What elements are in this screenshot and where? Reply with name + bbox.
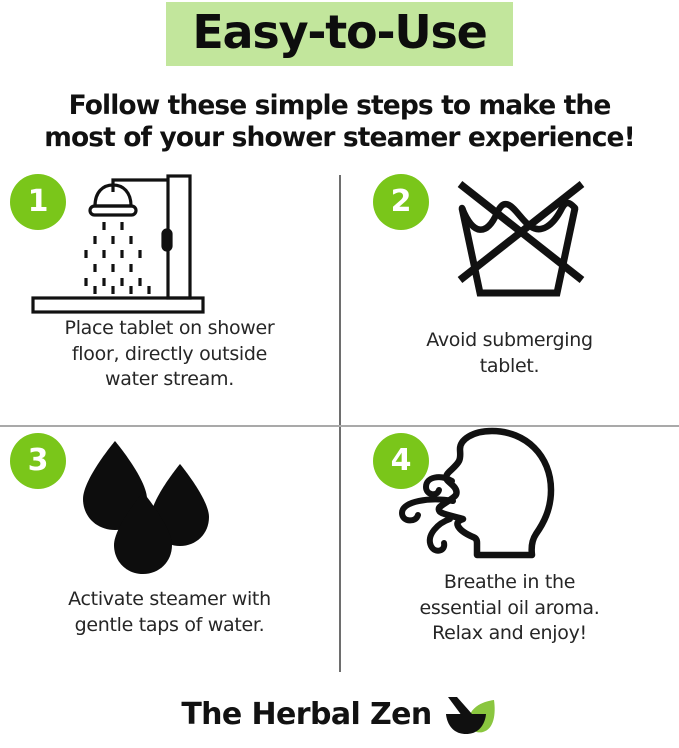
step-caption-4-line-2: essential oil aroma.: [352, 596, 667, 622]
step-caption-3-line-1: Activate steamer with: [12, 587, 327, 613]
brand-name: The Herbal Zen: [181, 700, 431, 730]
title-highlight-band: Easy-to-Use: [166, 2, 512, 66]
subtitle-line-2: most of your shower steamer experience!: [8, 122, 671, 154]
water-drops-icon: [0, 427, 339, 577]
step-caption-2-line-1: Avoid submerging: [352, 328, 667, 354]
step-card-3: 3 Activate steamer with gentle taps of w…: [0, 427, 339, 682]
step-card-1: 1: [0, 168, 339, 423]
step-card-4: 4 Breathe in the essential oil aroma. Re…: [340, 427, 679, 682]
header: Easy-to-Use Follow these simple steps to…: [0, 0, 679, 155]
step-caption-1: Place tablet on shower floor, directly o…: [12, 316, 327, 393]
step-caption-1-line-1: Place tablet on shower: [12, 316, 327, 342]
breathe-head-icon: [340, 427, 679, 577]
step-caption-3: Activate steamer with gentle taps of wat…: [12, 587, 327, 638]
page-title: Easy-to-Use: [192, 8, 486, 56]
subtitle: Follow these simple steps to make the mo…: [0, 90, 679, 155]
title-container: Easy-to-Use: [0, 0, 679, 80]
mortar-and-pestle-leaf-icon: [442, 694, 498, 736]
step-caption-4-line-1: Breathe in the: [352, 570, 667, 596]
step-caption-1-line-3: water stream.: [12, 367, 327, 393]
step-caption-2: Avoid submerging tablet.: [352, 328, 667, 379]
steps-grid: 1: [0, 168, 679, 678]
step-caption-2-line-2: tablet.: [352, 354, 667, 380]
step-caption-4: Breathe in the essential oil aroma. Rela…: [352, 570, 667, 647]
step-caption-1-line-2: floor, directly outside: [12, 342, 327, 368]
shower-icon: [0, 168, 339, 318]
step-card-2: 2 Avoid submerging tablet.: [340, 168, 679, 423]
footer-logo: The Herbal Zen: [0, 694, 679, 736]
subtitle-line-1: Follow these simple steps to make the: [8, 90, 671, 122]
no-submerge-icon: [340, 168, 679, 318]
step-caption-4-line-3: Relax and enjoy!: [352, 621, 667, 647]
step-caption-3-line-2: gentle taps of water.: [12, 613, 327, 639]
